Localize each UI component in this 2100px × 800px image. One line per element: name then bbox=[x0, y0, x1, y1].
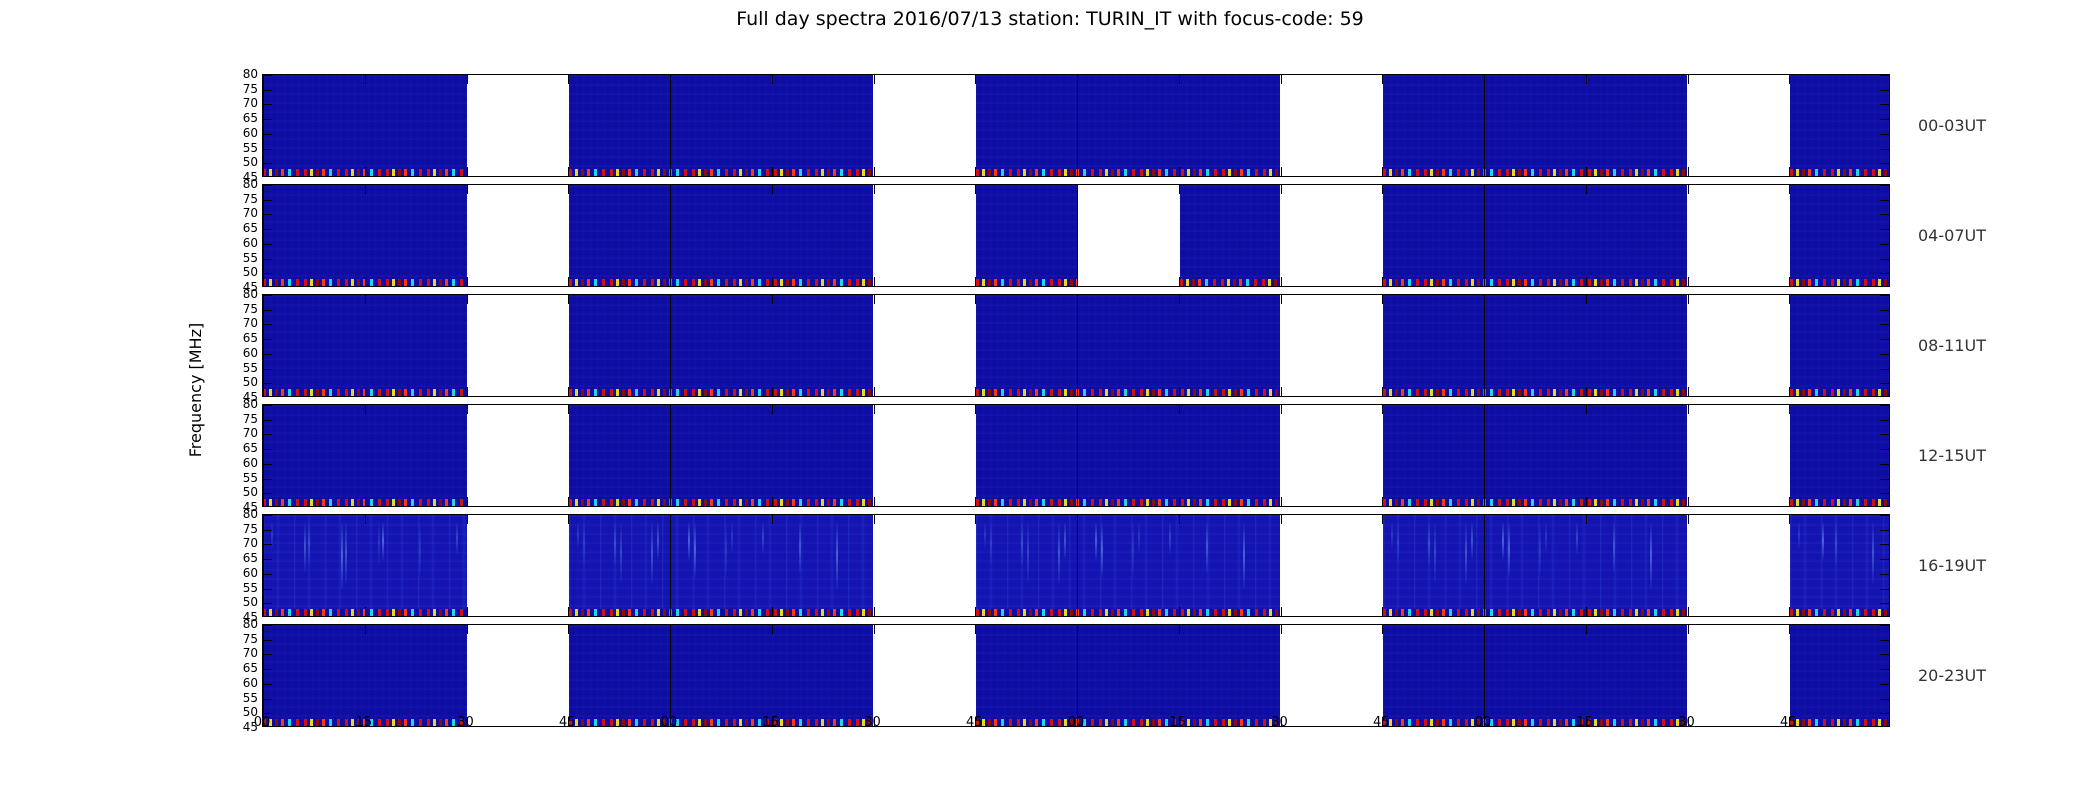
x-tick-mark bbox=[365, 607, 366, 616]
y-tick-label: 70 bbox=[243, 318, 258, 328]
spectrogram-data-segment bbox=[263, 75, 467, 176]
x-tick-mark bbox=[467, 75, 468, 84]
x-tick-mark bbox=[467, 405, 468, 414]
marker-channel-strip bbox=[976, 719, 1280, 726]
y-tick-label: 50 bbox=[243, 377, 258, 387]
y-tick-label: 55 bbox=[243, 363, 258, 373]
y-tick-mark bbox=[1880, 119, 1889, 120]
x-tick-mark bbox=[975, 185, 976, 194]
y-tick-label: 80 bbox=[243, 179, 258, 189]
spectrogram-data-segment bbox=[1383, 625, 1687, 726]
marker-channel-strip bbox=[569, 719, 873, 726]
x-tick-mark bbox=[874, 625, 875, 634]
spectrogram-data-segment bbox=[569, 75, 873, 176]
x-tick-mark bbox=[467, 625, 468, 634]
interference-streak bbox=[651, 521, 653, 584]
x-tick-label: 45 bbox=[1366, 715, 1396, 730]
x-tick-mark bbox=[1382, 515, 1383, 524]
x-tick-mark bbox=[874, 167, 875, 176]
y-tick-label: 80 bbox=[243, 509, 258, 519]
x-tick-mark bbox=[568, 185, 569, 194]
interference-streak bbox=[1169, 521, 1171, 554]
interference-streak bbox=[308, 521, 310, 566]
y-tick-mark bbox=[1880, 214, 1889, 215]
hour-gridline bbox=[1484, 75, 1485, 176]
marker-channel-strip bbox=[1790, 389, 1889, 396]
y-tick-mark bbox=[263, 383, 272, 384]
y-tick-label: 55 bbox=[243, 143, 258, 153]
y-tick-label: 55 bbox=[243, 693, 258, 703]
y-tick-mark bbox=[263, 214, 272, 215]
y-tick-label: 80 bbox=[243, 399, 258, 409]
y-tick-label-column: 8075706560555045 bbox=[196, 294, 258, 397]
hour-gridline bbox=[670, 515, 671, 616]
x-tick-mark bbox=[975, 405, 976, 414]
y-tick-mark bbox=[1880, 134, 1889, 135]
y-tick-mark bbox=[1880, 163, 1889, 164]
spectrogram-panel[interactable] bbox=[262, 184, 1890, 287]
x-tick-mark bbox=[1789, 277, 1790, 286]
x-tick-mark bbox=[975, 387, 976, 396]
x-tick-mark bbox=[1179, 185, 1180, 194]
hour-gridline bbox=[1077, 405, 1078, 506]
interference-streak bbox=[1021, 521, 1023, 566]
x-tick-mark bbox=[1382, 405, 1383, 414]
hour-gridline bbox=[263, 625, 264, 726]
y-tick-mark bbox=[263, 559, 272, 560]
y-tick-label: 60 bbox=[243, 238, 258, 248]
hour-gridline bbox=[1077, 625, 1078, 726]
hour-gridline bbox=[1484, 515, 1485, 616]
x-tick-mark bbox=[975, 515, 976, 524]
x-tick-label: 15 bbox=[349, 715, 379, 730]
panel-time-range-label: 20-23UT bbox=[1918, 666, 1986, 685]
x-tick-mark bbox=[1688, 185, 1689, 194]
y-tick-mark bbox=[1880, 383, 1889, 384]
y-tick-mark bbox=[1880, 640, 1889, 641]
hour-gridline bbox=[1484, 185, 1485, 286]
y-tick-mark bbox=[1880, 295, 1889, 296]
y-tick-label: 70 bbox=[243, 538, 258, 548]
y-tick-mark bbox=[1880, 229, 1889, 230]
y-tick-mark bbox=[1880, 75, 1889, 76]
marker-channel-strip bbox=[569, 389, 873, 396]
spectrogram-data-segment bbox=[976, 625, 1280, 726]
x-tick-mark bbox=[467, 295, 468, 304]
interference-streak bbox=[1132, 521, 1134, 578]
x-tick-mark bbox=[975, 277, 976, 286]
x-tick-mark bbox=[1382, 277, 1383, 286]
marker-channel-strip bbox=[1790, 719, 1889, 726]
y-tick-mark bbox=[263, 574, 272, 575]
x-tick-mark bbox=[1789, 167, 1790, 176]
y-tick-label: 70 bbox=[243, 98, 258, 108]
x-tick-mark bbox=[1586, 625, 1587, 634]
y-tick-mark bbox=[263, 259, 272, 260]
y-tick-mark bbox=[263, 185, 272, 186]
hour-gridline bbox=[1484, 405, 1485, 506]
y-tick-mark bbox=[263, 119, 272, 120]
y-tick-label: 80 bbox=[243, 69, 258, 79]
y-tick-label: 80 bbox=[243, 289, 258, 299]
interference-streak bbox=[1138, 521, 1140, 553]
x-tick-label: 30 bbox=[858, 715, 888, 730]
y-tick-label-column: 8075706560555045 bbox=[196, 514, 258, 617]
y-tick-label: 65 bbox=[243, 663, 258, 673]
x-tick-mark bbox=[1688, 405, 1689, 414]
y-tick-label-column: 8075706560555045 bbox=[196, 624, 258, 727]
spectrogram-data-segment bbox=[1790, 515, 1889, 616]
y-tick-mark bbox=[263, 405, 272, 406]
interference-streak bbox=[345, 521, 347, 584]
hour-gridline bbox=[1077, 515, 1078, 616]
spectrogram-data-segment bbox=[1790, 405, 1889, 506]
marker-channel-strip bbox=[1383, 169, 1687, 176]
x-tick-mark bbox=[1789, 75, 1790, 84]
x-tick-mark bbox=[1382, 295, 1383, 304]
interference-streak bbox=[1428, 521, 1430, 566]
x-tick-mark bbox=[1688, 497, 1689, 506]
x-tick-mark bbox=[1586, 277, 1587, 286]
y-tick-mark bbox=[1880, 699, 1889, 700]
y-tick-mark bbox=[1880, 479, 1889, 480]
y-tick-mark bbox=[1880, 310, 1889, 311]
y-tick-label-column: 8075706560555045 bbox=[196, 404, 258, 507]
x-tick-mark bbox=[568, 75, 569, 84]
spectrogram-panel[interactable] bbox=[262, 404, 1890, 507]
spectrogram-data-segment bbox=[976, 75, 1280, 176]
y-tick-label: 60 bbox=[243, 678, 258, 688]
interference-streak bbox=[1471, 521, 1473, 559]
x-tick-mark bbox=[1281, 167, 1282, 176]
y-tick-mark bbox=[1880, 713, 1889, 714]
y-tick-label-column: 8075706560555045 bbox=[196, 184, 258, 287]
x-tick-mark bbox=[975, 295, 976, 304]
y-tick-label: 70 bbox=[243, 648, 258, 658]
spectrogram-data-segment bbox=[263, 515, 467, 616]
spectrogram-data-segment bbox=[263, 625, 467, 726]
x-tick-label: 45 bbox=[552, 715, 582, 730]
x-tick-mark bbox=[1688, 387, 1689, 396]
y-tick-mark bbox=[263, 434, 272, 435]
marker-channel-strip bbox=[1790, 609, 1889, 616]
interference-streak bbox=[1391, 521, 1393, 549]
x-tick-mark bbox=[1789, 295, 1790, 304]
y-tick-mark bbox=[263, 640, 272, 641]
interference-streak bbox=[1613, 521, 1615, 572]
x-tick-mark bbox=[1179, 625, 1180, 634]
y-tick-mark bbox=[1880, 515, 1889, 516]
x-tick-mark bbox=[772, 387, 773, 396]
y-tick-label: 50 bbox=[243, 597, 258, 607]
interference-streak bbox=[694, 521, 696, 577]
y-tick-label-column: 8075706560555045 bbox=[196, 74, 258, 177]
panel-plot-area bbox=[263, 185, 1889, 286]
y-tick-mark bbox=[1880, 405, 1889, 406]
marker-channel-strip bbox=[1790, 279, 1889, 286]
y-tick-mark bbox=[1880, 90, 1889, 91]
spectrogram-data-segment bbox=[569, 295, 873, 396]
x-tick-label: 00 bbox=[654, 715, 684, 730]
interference-streak bbox=[1397, 521, 1399, 565]
x-tick-mark bbox=[467, 185, 468, 194]
x-tick-mark bbox=[1179, 515, 1180, 524]
y-tick-mark bbox=[263, 273, 272, 274]
interference-streak bbox=[1243, 521, 1245, 589]
spectrogram-data-segment bbox=[1790, 625, 1889, 726]
spectrogram-data-segment bbox=[1383, 75, 1687, 176]
y-tick-label: 50 bbox=[243, 707, 258, 717]
y-tick-mark bbox=[263, 369, 272, 370]
y-tick-mark bbox=[263, 654, 272, 655]
y-tick-label: 50 bbox=[243, 267, 258, 277]
x-tick-mark bbox=[1586, 515, 1587, 524]
interference-streak bbox=[1539, 521, 1541, 578]
y-tick-label: 60 bbox=[243, 568, 258, 578]
y-tick-label: 75 bbox=[243, 194, 258, 204]
spectrogram-panel[interactable] bbox=[262, 624, 1890, 727]
x-tick-mark bbox=[1281, 185, 1282, 194]
y-tick-mark bbox=[263, 603, 272, 604]
marker-channel-strip bbox=[569, 499, 873, 506]
spectrogram-panel[interactable] bbox=[262, 74, 1890, 177]
y-tick-label: 65 bbox=[243, 333, 258, 343]
interference-streak bbox=[1576, 521, 1578, 554]
interference-streak bbox=[304, 521, 306, 572]
x-tick-mark bbox=[874, 75, 875, 84]
x-tick-mark bbox=[1179, 497, 1180, 506]
interference-streak bbox=[1434, 521, 1436, 583]
x-tick-mark bbox=[1179, 405, 1180, 414]
x-tick-mark bbox=[1179, 387, 1180, 396]
hour-gridline bbox=[1077, 185, 1078, 286]
spectrogram-data-segment bbox=[1383, 295, 1687, 396]
y-tick-mark bbox=[263, 449, 272, 450]
y-tick-mark bbox=[1880, 369, 1889, 370]
panel-time-range-label: 00-03UT bbox=[1918, 116, 1986, 135]
spectrogram-data-segment bbox=[1383, 405, 1687, 506]
y-tick-label: 65 bbox=[243, 553, 258, 563]
x-tick-mark bbox=[772, 515, 773, 524]
x-tick-mark bbox=[1382, 167, 1383, 176]
panel-time-range-label: 12-15UT bbox=[1918, 446, 1986, 465]
spectrogram-data-segment bbox=[1383, 515, 1687, 616]
interference-streak bbox=[990, 521, 992, 565]
x-tick-mark bbox=[1586, 185, 1587, 194]
panel-plot-area bbox=[263, 625, 1889, 726]
interference-streak bbox=[1650, 521, 1652, 589]
panel-plot-area bbox=[263, 405, 1889, 506]
y-tick-mark bbox=[263, 464, 272, 465]
interference-streak bbox=[1835, 521, 1837, 566]
y-tick-mark bbox=[263, 684, 272, 685]
hour-gridline bbox=[263, 75, 264, 176]
x-tick-mark bbox=[1586, 295, 1587, 304]
y-tick-label: 65 bbox=[243, 443, 258, 453]
interference-streak bbox=[836, 521, 838, 589]
x-tick-mark bbox=[772, 277, 773, 286]
y-tick-mark bbox=[263, 669, 272, 670]
x-tick-mark bbox=[772, 185, 773, 194]
x-tick-mark bbox=[1281, 625, 1282, 634]
y-tick-mark bbox=[1880, 449, 1889, 450]
x-tick-mark bbox=[1179, 607, 1180, 616]
x-tick-mark bbox=[975, 625, 976, 634]
x-tick-mark bbox=[975, 75, 976, 84]
x-tick-mark bbox=[568, 277, 569, 286]
interference-streak bbox=[1872, 521, 1874, 584]
x-tick-mark bbox=[1586, 387, 1587, 396]
spectrogram-data-segment bbox=[569, 625, 873, 726]
x-tick-mark bbox=[365, 295, 366, 304]
spectrogram-data-segment bbox=[569, 405, 873, 506]
x-tick-mark bbox=[568, 167, 569, 176]
y-tick-mark bbox=[263, 295, 272, 296]
panel-time-range-label: 04-07UT bbox=[1918, 226, 1986, 245]
interference-streak bbox=[725, 521, 727, 578]
hour-gridline bbox=[1484, 295, 1485, 396]
x-tick-mark bbox=[874, 185, 875, 194]
spectrogram-data-segment bbox=[1790, 185, 1889, 286]
y-tick-mark bbox=[1880, 185, 1889, 186]
y-tick-label: 75 bbox=[243, 414, 258, 424]
spectrogram-data-segment bbox=[1383, 185, 1687, 286]
interference-streak bbox=[657, 521, 659, 559]
y-tick-mark bbox=[263, 589, 272, 590]
x-tick-mark bbox=[365, 185, 366, 194]
x-tick-mark bbox=[365, 625, 366, 634]
x-tick-mark bbox=[975, 167, 976, 176]
marker-channel-strip bbox=[1790, 499, 1889, 506]
x-tick-label: 45 bbox=[1773, 715, 1803, 730]
panel-plot-area bbox=[263, 515, 1889, 616]
x-tick-mark bbox=[1382, 497, 1383, 506]
y-tick-mark bbox=[263, 354, 272, 355]
hour-gridline bbox=[263, 515, 264, 616]
x-tick-mark bbox=[1688, 295, 1689, 304]
interference-streak bbox=[762, 521, 764, 554]
marker-channel-strip bbox=[1383, 499, 1687, 506]
x-tick-label: 15 bbox=[1163, 715, 1193, 730]
y-tick-label: 55 bbox=[243, 473, 258, 483]
y-tick-mark bbox=[1880, 354, 1889, 355]
x-tick-mark bbox=[568, 515, 569, 524]
x-tick-mark bbox=[467, 387, 468, 396]
y-tick-label: 45 bbox=[243, 722, 258, 732]
interference-streak bbox=[1798, 521, 1800, 549]
spectrogram-data-segment bbox=[1180, 185, 1281, 286]
x-tick-mark bbox=[568, 295, 569, 304]
interference-streak bbox=[1058, 521, 1060, 584]
x-tick-mark bbox=[1789, 185, 1790, 194]
interference-streak bbox=[688, 521, 690, 560]
panel-plot-area bbox=[263, 295, 1889, 396]
y-tick-label: 70 bbox=[243, 208, 258, 218]
y-tick-mark bbox=[263, 163, 272, 164]
x-tick-label: 00 bbox=[1061, 715, 1091, 730]
x-tick-mark bbox=[365, 405, 366, 414]
y-tick-mark bbox=[263, 493, 272, 494]
y-tick-label: 55 bbox=[243, 253, 258, 263]
spectrogram-data-segment bbox=[1790, 295, 1889, 396]
y-tick-mark bbox=[263, 90, 272, 91]
x-tick-mark bbox=[874, 295, 875, 304]
y-tick-mark bbox=[263, 310, 272, 311]
x-tick-mark bbox=[1281, 497, 1282, 506]
y-tick-label: 50 bbox=[243, 487, 258, 497]
spectrogram-data-segment bbox=[1790, 75, 1889, 176]
marker-channel-strip bbox=[1790, 169, 1889, 176]
x-tick-mark bbox=[1281, 295, 1282, 304]
spectrogram-panel[interactable] bbox=[262, 514, 1890, 617]
x-tick-mark bbox=[874, 277, 875, 286]
x-tick-mark bbox=[568, 497, 569, 506]
spectrogram-data-segment bbox=[263, 185, 467, 286]
panel-time-range-label: 08-11UT bbox=[1918, 336, 1986, 355]
x-tick-mark bbox=[365, 497, 366, 506]
y-tick-mark bbox=[1880, 559, 1889, 560]
y-tick-label: 75 bbox=[243, 634, 258, 644]
x-tick-mark bbox=[975, 497, 976, 506]
y-tick-mark bbox=[263, 324, 272, 325]
x-tick-mark bbox=[1281, 607, 1282, 616]
panel-time-range-label: 16-19UT bbox=[1918, 556, 1986, 575]
y-tick-label: 65 bbox=[243, 113, 258, 123]
x-tick-mark bbox=[568, 405, 569, 414]
interference-streak bbox=[456, 521, 458, 554]
x-tick-mark bbox=[1789, 607, 1790, 616]
x-tick-mark bbox=[467, 277, 468, 286]
interference-streak bbox=[1465, 521, 1467, 584]
y-tick-mark bbox=[263, 699, 272, 700]
interference-streak bbox=[799, 521, 801, 572]
interference-streak bbox=[583, 521, 585, 565]
x-tick-mark bbox=[1789, 405, 1790, 414]
x-tick-mark bbox=[1688, 607, 1689, 616]
interference-streak bbox=[577, 521, 579, 549]
y-tick-mark bbox=[1880, 684, 1889, 685]
y-tick-mark bbox=[1880, 464, 1889, 465]
hour-gridline bbox=[670, 625, 671, 726]
x-tick-mark bbox=[772, 167, 773, 176]
y-tick-mark bbox=[1880, 669, 1889, 670]
x-tick-mark bbox=[1179, 167, 1180, 176]
y-tick-mark bbox=[1880, 434, 1889, 435]
y-tick-mark bbox=[263, 625, 272, 626]
interference-streak bbox=[620, 521, 622, 583]
y-tick-mark bbox=[263, 104, 272, 105]
x-tick-mark bbox=[1586, 405, 1587, 414]
x-tick-mark bbox=[772, 405, 773, 414]
y-tick-label: 60 bbox=[243, 348, 258, 358]
y-tick-mark bbox=[1880, 589, 1889, 590]
spectrogram-panel[interactable] bbox=[262, 294, 1890, 397]
marker-channel-strip bbox=[1383, 279, 1687, 286]
x-tick-label: 00 bbox=[1468, 715, 1498, 730]
x-tick-mark bbox=[1281, 387, 1282, 396]
y-tick-label: 75 bbox=[243, 524, 258, 534]
spectrogram-data-segment bbox=[976, 405, 1280, 506]
x-tick-mark bbox=[365, 515, 366, 524]
interference-streak bbox=[1545, 521, 1547, 553]
y-tick-label: 75 bbox=[243, 84, 258, 94]
interference-streak bbox=[1502, 521, 1504, 560]
x-tick-mark bbox=[467, 515, 468, 524]
x-tick-mark bbox=[874, 497, 875, 506]
x-tick-mark bbox=[874, 607, 875, 616]
x-tick-mark bbox=[1789, 387, 1790, 396]
y-tick-label: 80 bbox=[243, 619, 258, 629]
